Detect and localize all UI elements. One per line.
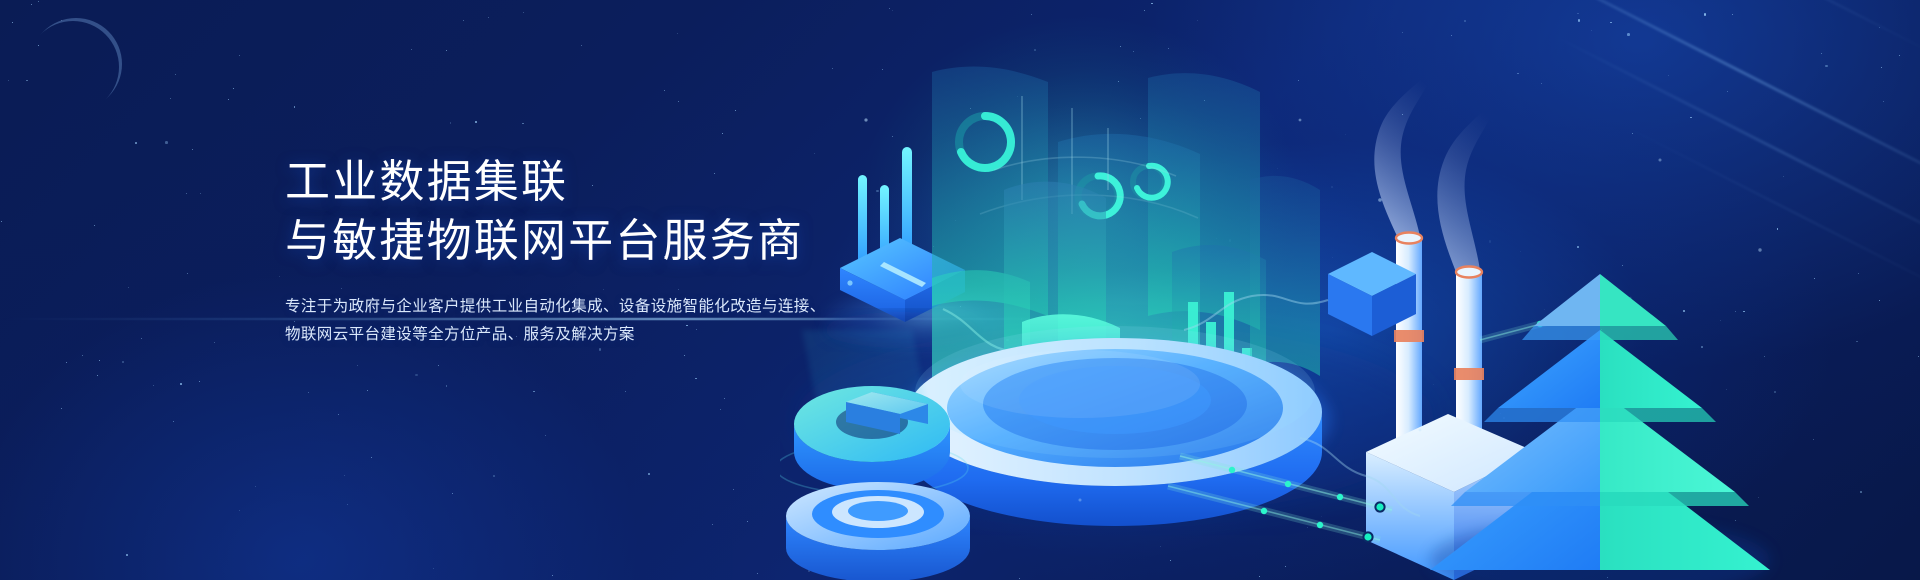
star [545, 435, 546, 436]
star [38, 1, 39, 2]
star [493, 475, 495, 477]
central-disc-platform [899, 326, 1331, 526]
star [26, 80, 28, 82]
star [180, 383, 182, 385]
star [357, 365, 358, 366]
star [175, 74, 176, 75]
star [648, 473, 650, 475]
smoke-plume [1437, 90, 1502, 272]
star [239, 55, 240, 56]
tower-panel [1250, 176, 1320, 376]
star [724, 398, 725, 399]
star [533, 391, 535, 393]
star [126, 554, 128, 556]
star [239, 510, 240, 511]
star [581, 45, 582, 46]
star [170, 98, 171, 99]
star [233, 88, 234, 89]
star [61, 408, 62, 409]
star [684, 355, 685, 356]
pedestal-ring [786, 482, 970, 580]
chimney-band [1394, 330, 1424, 342]
star [733, 489, 734, 490]
star [411, 49, 412, 50]
star [200, 193, 201, 194]
star [415, 374, 418, 377]
star [735, 110, 736, 111]
star [344, 475, 345, 476]
star [187, 273, 188, 274]
smoke-plume [1374, 58, 1440, 238]
star [228, 99, 229, 100]
star [757, 573, 758, 574]
star [347, 504, 348, 505]
star [165, 141, 168, 144]
star [446, 385, 448, 387]
star [433, 568, 434, 569]
hero-copy: 工业数据集联 与敏捷物联网平台服务商 专注于为政府与企业客户提供工业自动化集成、… [285, 152, 925, 350]
star [522, 123, 524, 125]
hero-banner: 工业数据集联 与敏捷物联网平台服务商 专注于为政府与企业客户提供工业自动化集成、… [0, 0, 1920, 580]
star [199, 381, 200, 382]
star [678, 101, 679, 102]
star [446, 50, 447, 51]
star [255, 486, 256, 487]
headline-line-2: 与敏捷物联网平台服务商 [285, 211, 925, 270]
star [122, 361, 124, 363]
star [66, 362, 67, 363]
star [31, 4, 32, 5]
star [153, 385, 155, 387]
star [294, 106, 296, 108]
star [452, 493, 453, 494]
star [8, 80, 9, 81]
star [438, 365, 439, 366]
star [722, 133, 723, 134]
star [367, 390, 368, 391]
star [141, 338, 142, 339]
star [338, 414, 339, 415]
star [625, 391, 626, 392]
star [475, 121, 477, 123]
hero-illustration [780, 0, 1920, 580]
star [1, 221, 2, 222]
star [463, 20, 464, 21]
subtitle-line-2: 物联网云平台建设等全方位产品、服务及解决方案 [285, 321, 925, 350]
star [664, 90, 665, 91]
star [94, 225, 95, 226]
star [488, 17, 489, 18]
crescent-arc-decoration [30, 18, 122, 110]
star [214, 342, 215, 343]
star [192, 149, 193, 150]
star [128, 287, 129, 288]
star [677, 33, 678, 34]
star [712, 524, 713, 525]
star [523, 12, 524, 13]
star [695, 378, 697, 380]
star [720, 409, 721, 410]
star [279, 276, 280, 277]
star [186, 193, 187, 194]
star [173, 421, 174, 422]
star [450, 122, 452, 124]
star [371, 457, 372, 458]
star [61, 20, 62, 21]
star [747, 521, 748, 522]
star [552, 575, 553, 576]
star [38, 45, 39, 46]
star [99, 360, 100, 361]
star [135, 142, 137, 144]
headline-line-1: 工业数据集联 [285, 152, 925, 211]
star [12, 22, 13, 23]
star [308, 392, 309, 393]
chimney-band [1454, 368, 1484, 380]
star [82, 355, 83, 356]
star [97, 375, 98, 376]
subtitle-line-1: 专注于为政府与企业客户提供工业自动化集成、设备设施智能化改造与连接、 [285, 293, 925, 322]
